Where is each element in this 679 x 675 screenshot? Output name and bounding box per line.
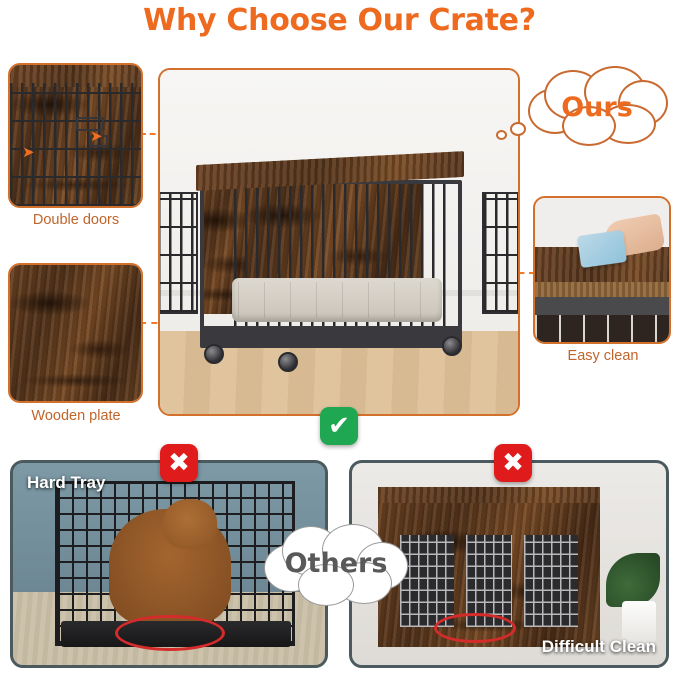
cleaning-cloth-icon <box>577 230 627 268</box>
caption-wooden-plate: Wooden plate <box>0 408 152 424</box>
main-product-panel[interactable] <box>158 68 520 416</box>
caster-wheel-front-right <box>278 352 298 372</box>
problem-highlight-ellipse <box>115 615 225 651</box>
cloud-trail-dot-2 <box>496 130 507 140</box>
arrow-pointer-icon-left: ➤ <box>22 145 35 160</box>
problem-highlight-ellipse-2 <box>434 613 516 643</box>
caster-wheel-back-right <box>442 336 462 356</box>
cross-badge-hard-tray: ✖ <box>160 444 198 482</box>
caption-easy-clean: Easy clean <box>527 348 679 364</box>
cloud-trail-dot-1 <box>510 122 526 136</box>
check-badge: ✔ <box>320 407 358 445</box>
double-doors-photo: ➤ ➤ <box>10 65 141 206</box>
easyclean-bar-slots <box>535 315 669 342</box>
feature-panel-wooden-plate[interactable] <box>8 263 143 403</box>
cabinet-mesh-right <box>524 535 578 627</box>
crate-door-panel-left <box>158 192 198 314</box>
dog-head <box>163 499 217 549</box>
infographic-stage: Why Choose Our Crate? ➤ ➤ Double doors W… <box>0 0 679 675</box>
wire-bars-left-h <box>158 194 196 312</box>
others-thought-bubble: Others <box>262 524 410 606</box>
hard-tray-label: Hard Tray <box>27 473 105 493</box>
easyclean-board-edge <box>535 282 669 298</box>
crate-base-plinth <box>200 326 462 348</box>
ours-thought-bubble: Ours <box>522 66 672 151</box>
ours-label: Ours <box>522 92 672 123</box>
crate-door-area: ➤ ➤ <box>10 83 141 206</box>
wood-swatch-icon <box>10 265 141 401</box>
difficult-clean-label: Difficult Clean <box>542 637 656 657</box>
feature-panel-double-doors[interactable]: ➤ ➤ <box>8 63 143 208</box>
arrow-pointer-icon-right: ➤ <box>90 129 103 144</box>
caption-double-doors: Double doors <box>0 212 152 228</box>
page-title: Why Choose Our Crate? <box>0 3 679 38</box>
wire-bars-right-h <box>484 194 520 312</box>
crate-cushion <box>232 278 442 322</box>
dog-crate-furniture <box>190 158 490 358</box>
main-product-photo <box>160 70 518 414</box>
others-label: Others <box>262 548 410 579</box>
cabinet-top <box>378 487 600 503</box>
feature-panel-easy-clean[interactable] <box>533 196 671 344</box>
easyclean-dark-band <box>535 297 669 314</box>
cross-badge-difficult-clean: ✖ <box>494 444 532 482</box>
caster-wheel-front-left <box>204 344 224 364</box>
crate-door-panel-right <box>482 192 520 314</box>
